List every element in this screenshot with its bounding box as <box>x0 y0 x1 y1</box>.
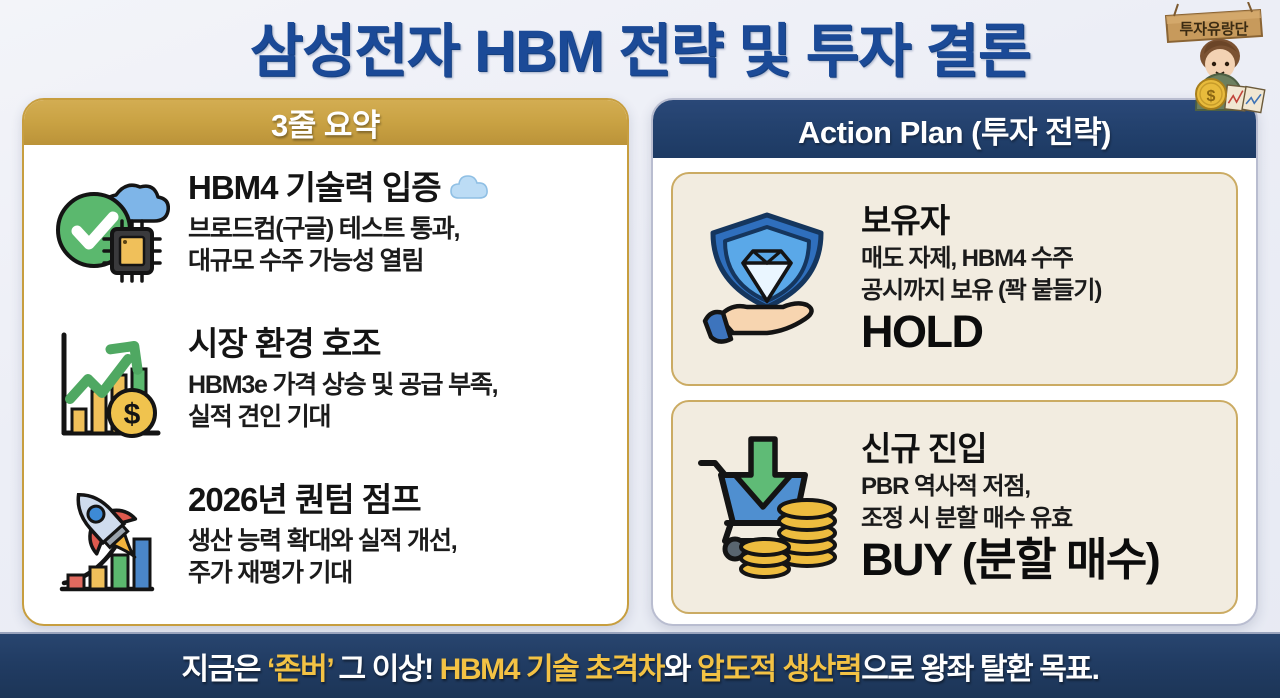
action-card-buy[interactable]: 신규 진입 PBR 역사적 저점, 조정 시 분할 매수 유효 BUY (분할 … <box>671 400 1238 614</box>
action-plan-panel: Action Plan (투자 전략) <box>651 98 1258 626</box>
bottom-banner: 지금은 ‘존버’ 그 이상! HBM4 기술 초격차와 압도적 생산력으로 왕좌… <box>0 632 1280 698</box>
action-card-verdict: BUY (분할 매수) <box>861 536 1220 583</box>
bottom-banner-text: 지금은 ‘존버’ 그 이상! HBM4 기술 초격차와 압도적 생산력으로 왕좌… <box>181 644 1098 688</box>
cloud-icon <box>449 174 491 202</box>
svg-text:$: $ <box>1207 88 1216 105</box>
summary-heading: HBM4 기술력 입증 <box>188 169 491 207</box>
list-item: HBM4 기술력 입증 브로드컴(구글) 테스트 통과, 대규모 수주 가능성 … <box>42 163 609 311</box>
banner-segment: 그 이상! <box>332 653 439 686</box>
action-plan-panel-body: 보유자 매도 자제, HBM4 수주 공시까지 보유 (꽉 붙들기) HOLD <box>653 158 1256 624</box>
banner-segment: ‘존버’ <box>267 653 332 686</box>
list-item: $ 시장 환경 호조 HBM3e 가격 상승 및 공급 부족, 실적 견인 기대 <box>42 319 609 467</box>
banner-segment: HBM4 기술 초격차 <box>440 653 664 686</box>
summary-panel: 3줄 요약 <box>22 98 629 626</box>
summary-description: 브로드컴(구글) 테스트 통과, 대규모 수주 가능성 열림 <box>188 213 491 277</box>
summary-text: HBM4 기술력 입증 브로드컴(구글) 테스트 통과, 대규모 수주 가능성 … <box>188 163 491 277</box>
summary-heading-label: 시장 환경 호조 <box>188 325 381 363</box>
summary-description: HBM3e 가격 상승 및 공급 부족, 실적 견인 기대 <box>188 369 497 433</box>
summary-heading: 시장 환경 호조 <box>188 325 497 363</box>
summary-text: 2026년 퀀텀 점프 생산 능력 확대와 실적 개선, 주가 재평가 기대 <box>188 475 457 589</box>
list-item: 2026년 퀀텀 점프 생산 능력 확대와 실적 개선, 주가 재평가 기대 <box>42 475 609 623</box>
svg-text:$: $ <box>124 398 141 431</box>
summary-list: HBM4 기술력 입증 브로드컴(구글) 테스트 통과, 대규모 수주 가능성 … <box>42 159 609 623</box>
panels-container: 3줄 요약 <box>0 98 1280 626</box>
banner-segment: 지금은 <box>181 653 267 686</box>
action-card-text: 신규 진입 PBR 역사적 저점, 조정 시 분할 매수 유효 BUY (분할 … <box>861 431 1220 583</box>
summary-heading: 2026년 퀀텀 점프 <box>188 481 457 519</box>
banner-segment: 압도적 생산력 <box>697 653 861 686</box>
title-bar: 삼성전자 HBM 전략 및 투자 결론 <box>0 0 1280 92</box>
growth-chart-coin-icon: $ <box>42 319 174 451</box>
investor-nomad-character-icon: 투자유랑단 $ <box>1148 2 1274 114</box>
svg-text:투자유랑단: 투자유랑단 <box>1179 20 1248 38</box>
hand-shield-diamond-icon <box>683 195 851 363</box>
summary-panel-header: 3줄 요약 <box>24 100 627 145</box>
summary-description: 생산 능력 확대와 실적 개선, 주가 재평가 기대 <box>188 525 457 589</box>
page-title: 삼성전자 HBM 전략 및 투자 결론 <box>250 4 1031 88</box>
summary-text: 시장 환경 호조 HBM3e 가격 상승 및 공급 부족, 실적 견인 기대 <box>188 319 497 433</box>
banner-segment: 으로 왕좌 탈환 목표. <box>861 653 1098 686</box>
action-card-description: PBR 역사적 저점, 조정 시 분할 매수 유효 <box>861 471 1220 533</box>
summary-panel-body: HBM4 기술력 입증 브로드컴(구글) 테스트 통과, 대규모 수주 가능성 … <box>24 145 627 626</box>
action-card-heading: 보유자 <box>861 203 1220 239</box>
cart-down-arrow-coins-icon <box>683 423 851 591</box>
brand-logo: 투자유랑단 $ <box>1148 2 1274 114</box>
summary-heading-label: HBM4 기술력 입증 <box>188 169 441 207</box>
action-card-verdict: HOLD <box>861 308 1220 355</box>
action-card-heading: 신규 진입 <box>861 431 1220 467</box>
summary-heading-label: 2026년 퀀텀 점프 <box>188 481 421 519</box>
action-card-list: 보유자 매도 자제, HBM4 수주 공시까지 보유 (꽉 붙들기) HOLD <box>671 172 1238 614</box>
rocket-bar-chart-icon <box>42 475 174 607</box>
banner-segment: 와 <box>664 653 697 686</box>
action-card-description: 매도 자제, HBM4 수주 공시까지 보유 (꽉 붙들기) <box>861 243 1220 305</box>
check-cloud-chip-icon <box>42 163 174 295</box>
action-card-hold[interactable]: 보유자 매도 자제, HBM4 수주 공시까지 보유 (꽉 붙들기) HOLD <box>671 172 1238 386</box>
action-card-text: 보유자 매도 자제, HBM4 수주 공시까지 보유 (꽉 붙들기) HOLD <box>861 203 1220 355</box>
